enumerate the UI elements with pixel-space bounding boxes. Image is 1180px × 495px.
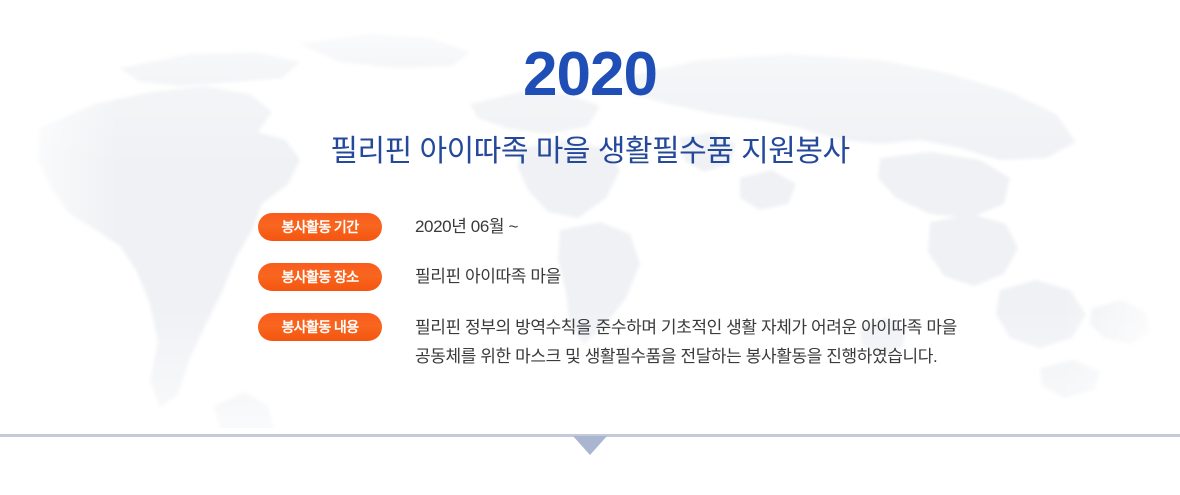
- promo-banner: 2020 필리핀 아이따족 마을 생활필수품 지원봉사 봉사활동 기간 2020…: [0, 0, 1180, 495]
- info-list: 봉사활동 기간 2020년 06월 ~ 봉사활동 장소 필리핀 아이따족 마을 …: [258, 213, 1138, 371]
- badge-volunteer-description: 봉사활동 내용: [258, 313, 382, 341]
- value-volunteer-description: 필리핀 정부의 방역수칙을 준수하며 기초적인 생활 자체가 어려운 아이따족 …: [382, 313, 1138, 371]
- page-title-year: 2020: [0, 44, 1180, 106]
- info-row-description: 봉사활동 내용 필리핀 정부의 방역수칙을 준수하며 기초적인 생활 자체가 어…: [258, 313, 1138, 371]
- info-row-location: 봉사활동 장소 필리핀 아이따족 마을: [258, 263, 1138, 291]
- value-volunteer-location: 필리핀 아이따족 마을: [382, 263, 1138, 291]
- badge-volunteer-location: 봉사활동 장소: [258, 263, 382, 291]
- page-subtitle: 필리핀 아이따족 마을 생활필수품 지원봉사: [0, 135, 1180, 170]
- info-row-period: 봉사활동 기간 2020년 06월 ~: [258, 213, 1138, 241]
- badge-volunteer-period: 봉사활동 기간: [258, 213, 382, 241]
- value-volunteer-period: 2020년 06월 ~: [382, 213, 1138, 241]
- scroll-down-triangle-icon: [573, 436, 607, 455]
